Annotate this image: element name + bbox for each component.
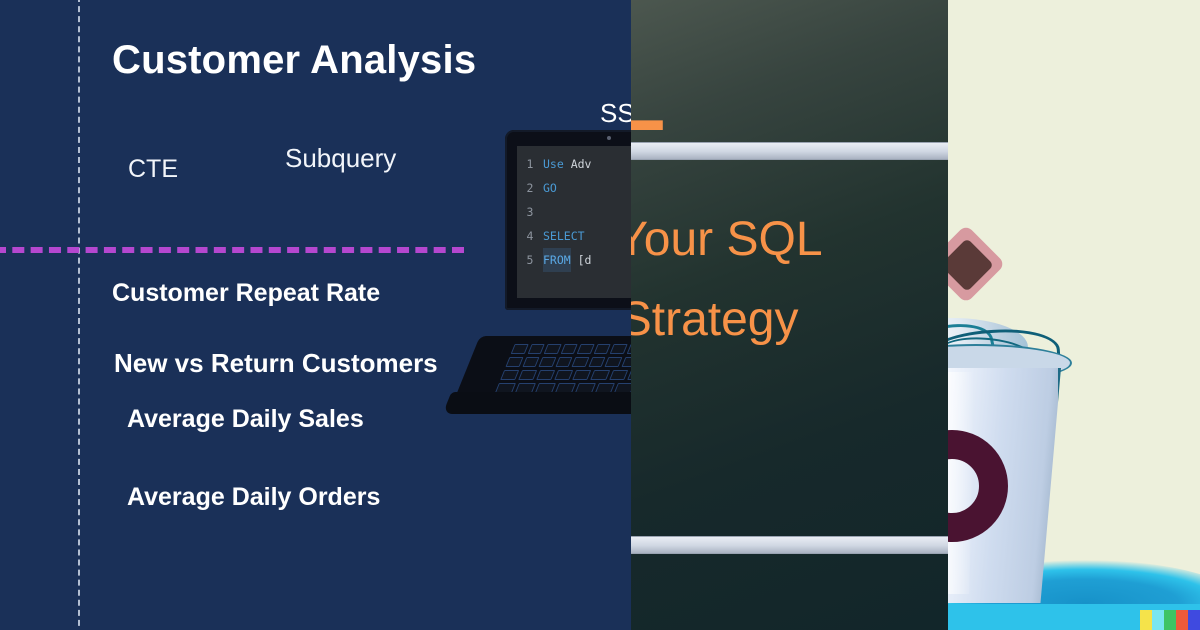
page-title: Customer Analysis — [112, 38, 572, 83]
swatch-cyan — [1152, 610, 1164, 630]
line-number: 1 — [517, 152, 543, 176]
panel-waste-bin — [948, 0, 1200, 630]
line-number: 3 — [517, 200, 543, 224]
line-number: 2 — [517, 176, 543, 200]
tag-cte: CTE — [128, 155, 178, 184]
laptop-base — [465, 306, 631, 434]
magenta-dashed-divider — [0, 247, 464, 253]
code-line: 1 Use Adv — [517, 152, 631, 176]
keyboard-row — [505, 357, 631, 367]
panel2-heading: QL — [631, 52, 948, 151]
highlight-bar-top — [631, 142, 948, 160]
laptop-illustration: 1 Use Adv 2 GO 3 — [505, 130, 631, 435]
metric-new-vs-return-customers: New vs Return Customers — [114, 348, 438, 379]
keyboard-row — [500, 370, 631, 380]
highlight-bar-bottom — [631, 536, 948, 554]
code-line: 2 GO — [517, 176, 631, 200]
code-keyword: GO — [543, 176, 557, 200]
keyboard-row — [511, 344, 631, 354]
tag-subquery: Subquery — [285, 143, 396, 174]
code-line: 3 — [517, 200, 631, 224]
color-swatch-strip — [1140, 610, 1200, 630]
swatch-blue — [1188, 610, 1200, 630]
laptop-screen: 1 Use Adv 2 GO 3 — [517, 146, 631, 298]
panel2-line-1: ze Your SQL — [631, 212, 948, 267]
line-number: 5 — [517, 248, 543, 272]
tag-ssms: SS — [600, 98, 631, 129]
code-keyword: FROM — [543, 248, 571, 272]
line-number: 4 — [517, 224, 543, 248]
code-text: Adv — [564, 152, 592, 176]
code-line: 5 FROM [d — [517, 248, 631, 272]
metric-average-daily-orders: Average Daily Orders — [127, 483, 380, 512]
code-keyword: SELECT — [543, 224, 585, 248]
swatch-green — [1164, 610, 1176, 630]
collage-stage: Customer Analysis CTE Subquery SS Custom… — [0, 0, 1200, 630]
metric-average-daily-sales: Average Daily Sales — [127, 405, 364, 434]
sql-code-block: 1 Use Adv 2 GO 3 — [517, 152, 631, 272]
panel-customer-analysis: Customer Analysis CTE Subquery SS Custom… — [0, 0, 631, 630]
code-keyword: Use — [543, 152, 564, 176]
webcam-icon — [607, 136, 611, 140]
code-line: 4 SELECT — [517, 224, 631, 248]
laptop-lid: 1 Use Adv 2 GO 3 — [505, 130, 631, 310]
panel-sql-tuning: QL ze Your SQL ng Strategy — [631, 0, 948, 630]
vertical-dashed-divider — [78, 0, 80, 630]
laptop-front-edge — [443, 392, 631, 414]
panel2-line-2: ng Strategy — [631, 292, 948, 347]
swatch-red — [1176, 610, 1188, 630]
swatch-yellow — [1140, 610, 1152, 630]
code-text: [d — [571, 248, 592, 272]
metric-customer-repeat-rate: Customer Repeat Rate — [112, 279, 380, 308]
